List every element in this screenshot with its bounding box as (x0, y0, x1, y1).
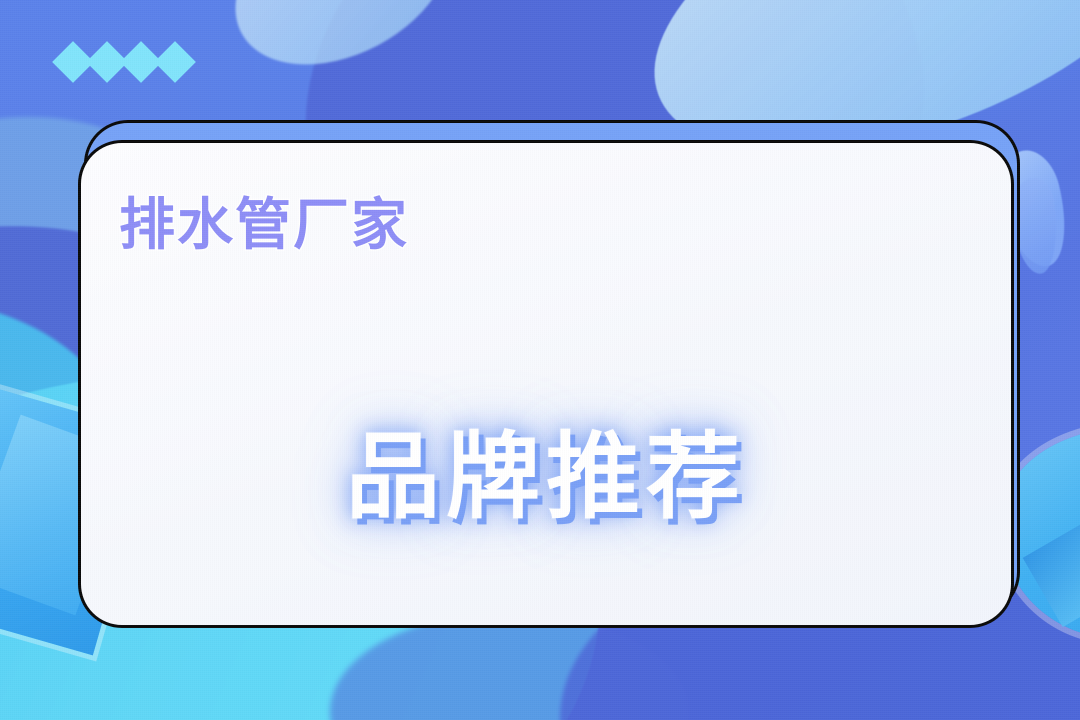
poster-subtitle: 排水管厂家 (119, 198, 409, 254)
diamond-row (55, 44, 190, 80)
content-card: 排水管厂家 品牌推荐 (78, 140, 1014, 628)
diamond-icon (154, 41, 196, 83)
poster-canvas: 排水管厂家 品牌推荐 (0, 0, 1080, 720)
poster-headline: 品牌推荐 (81, 431, 1011, 525)
card-inner: 排水管厂家 品牌推荐 (81, 143, 1011, 625)
